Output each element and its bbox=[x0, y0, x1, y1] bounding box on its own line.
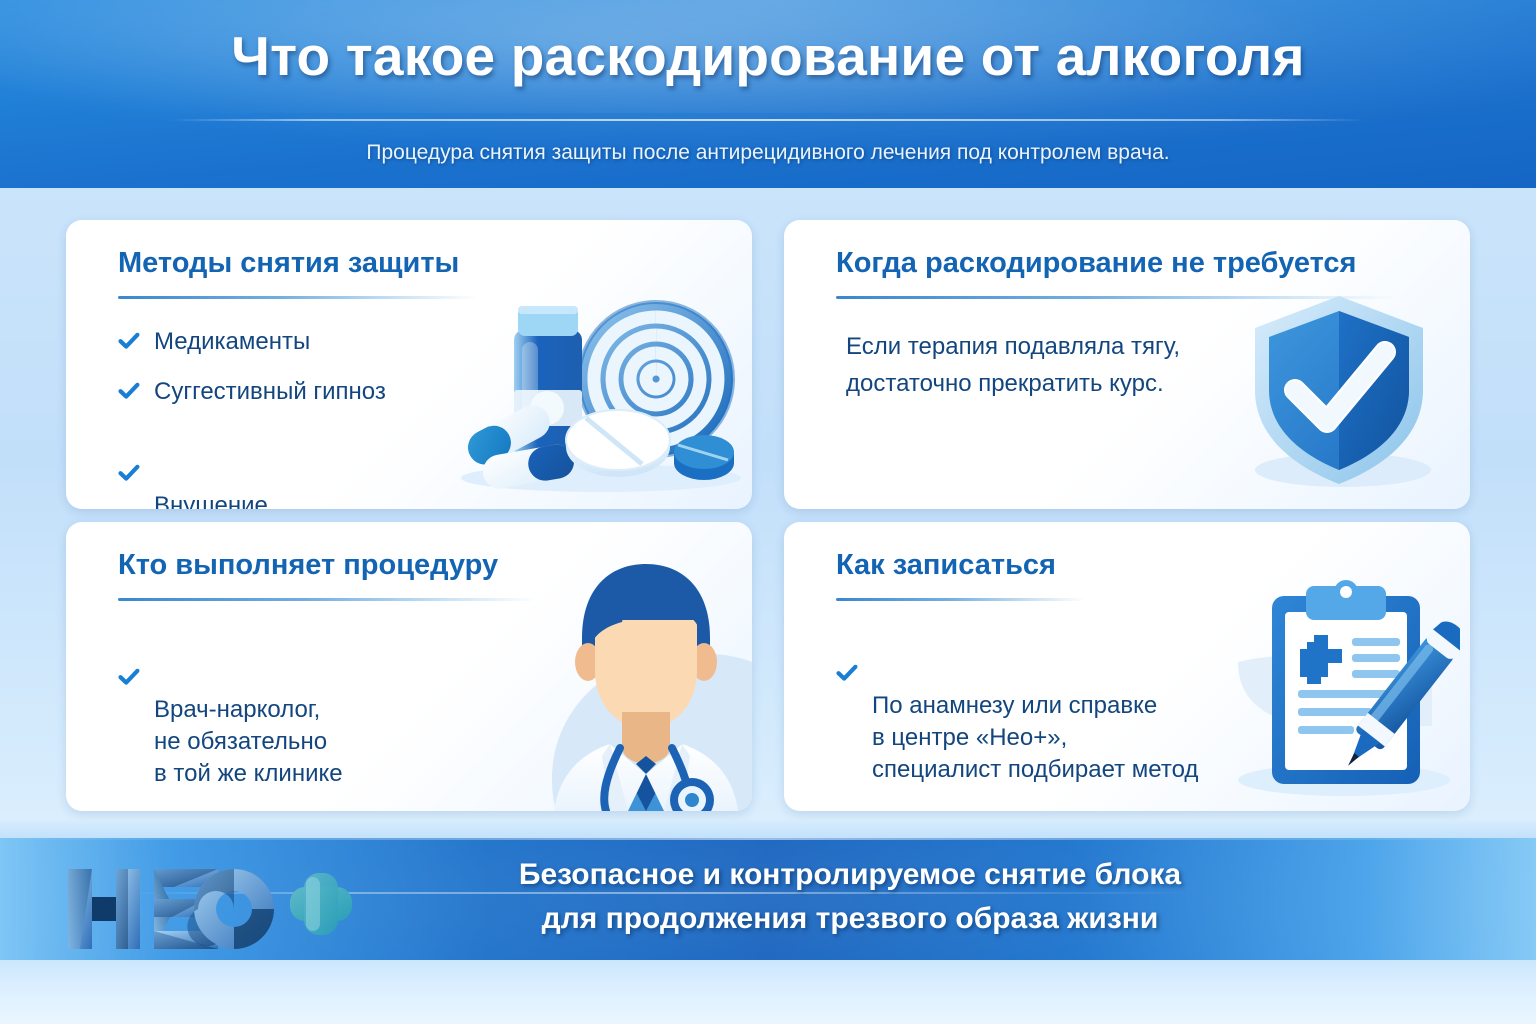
list-item-label: Врач-нарколог, не обязательно в той же к… bbox=[154, 696, 343, 787]
card-when-not-needed[interactable]: Когда раскодирование не требуется Если т… bbox=[784, 220, 1470, 509]
card-how-to-book[interactable]: Как записаться По анамнезу или справке в… bbox=[784, 522, 1470, 811]
neo-plus-logo[interactable] bbox=[62, 855, 352, 963]
page-title: Что такое раскодирование от алкоголя bbox=[0, 24, 1536, 88]
footer-line-1: Безопасное и контролируемое снятие блока bbox=[340, 853, 1360, 897]
check-icon bbox=[118, 429, 140, 451]
check-icon bbox=[118, 379, 140, 401]
list-item: Суггестивный гипноз bbox=[118, 376, 478, 408]
list-item-label: Медикаменты bbox=[154, 328, 310, 355]
header-divider bbox=[170, 119, 1366, 121]
check-icon bbox=[118, 329, 140, 351]
doctor-avatar-icon bbox=[396, 542, 752, 811]
card-grid: Методы снятия защиты Медикаменты Суггест… bbox=[66, 220, 1470, 811]
card-title: Методы снятия защиты bbox=[118, 247, 459, 280]
card-title-rule bbox=[118, 296, 478, 299]
infographic-poster: Что такое раскодирование от алкоголя Про… bbox=[0, 0, 1536, 1024]
list-item-label: Суггестивный гипноз bbox=[154, 378, 386, 405]
list-item: Внушение по системе Довженко bbox=[118, 426, 478, 509]
pills-bottle-spiral-icon bbox=[446, 282, 746, 497]
list-item: По анамнезу или справке в центре «Нео+»,… bbox=[836, 626, 1236, 786]
card-title: Как записаться bbox=[836, 549, 1056, 582]
check-icon bbox=[118, 633, 140, 655]
footer-slogan: Безопасное и контролируемое снятие блока… bbox=[340, 853, 1360, 940]
card-methods[interactable]: Методы снятия защиты Медикаменты Суггест… bbox=[66, 220, 752, 509]
list-item-label: Внушение по системе Довженко bbox=[154, 492, 394, 509]
card-title-rule bbox=[836, 598, 1086, 601]
list-item-label: По анамнезу или справке в центре «Нео+»,… bbox=[872, 692, 1198, 783]
card-who-performs[interactable]: Кто выполняет процедуру Врач-нарколог, н… bbox=[66, 522, 752, 811]
clipboard-pen-icon bbox=[1232, 574, 1460, 802]
footer-line-2: для продолжения трезвого образа жизни bbox=[340, 897, 1360, 941]
shield-check-icon bbox=[1239, 286, 1439, 496]
card-title: Когда раскодирование не требуется bbox=[836, 247, 1356, 280]
card-list: По анамнезу или справке в центре «Нео+»,… bbox=[836, 626, 1236, 804]
check-icon bbox=[836, 629, 858, 651]
page-subtitle: Процедура снятия защиты после антирециди… bbox=[0, 141, 1536, 165]
list-item: Медикаменты bbox=[118, 326, 478, 358]
card-list: Медикаменты Суггестивный гипноз Внушение… bbox=[118, 326, 478, 509]
header-banner: Что такое раскодирование от алкоголя Про… bbox=[0, 0, 1536, 188]
